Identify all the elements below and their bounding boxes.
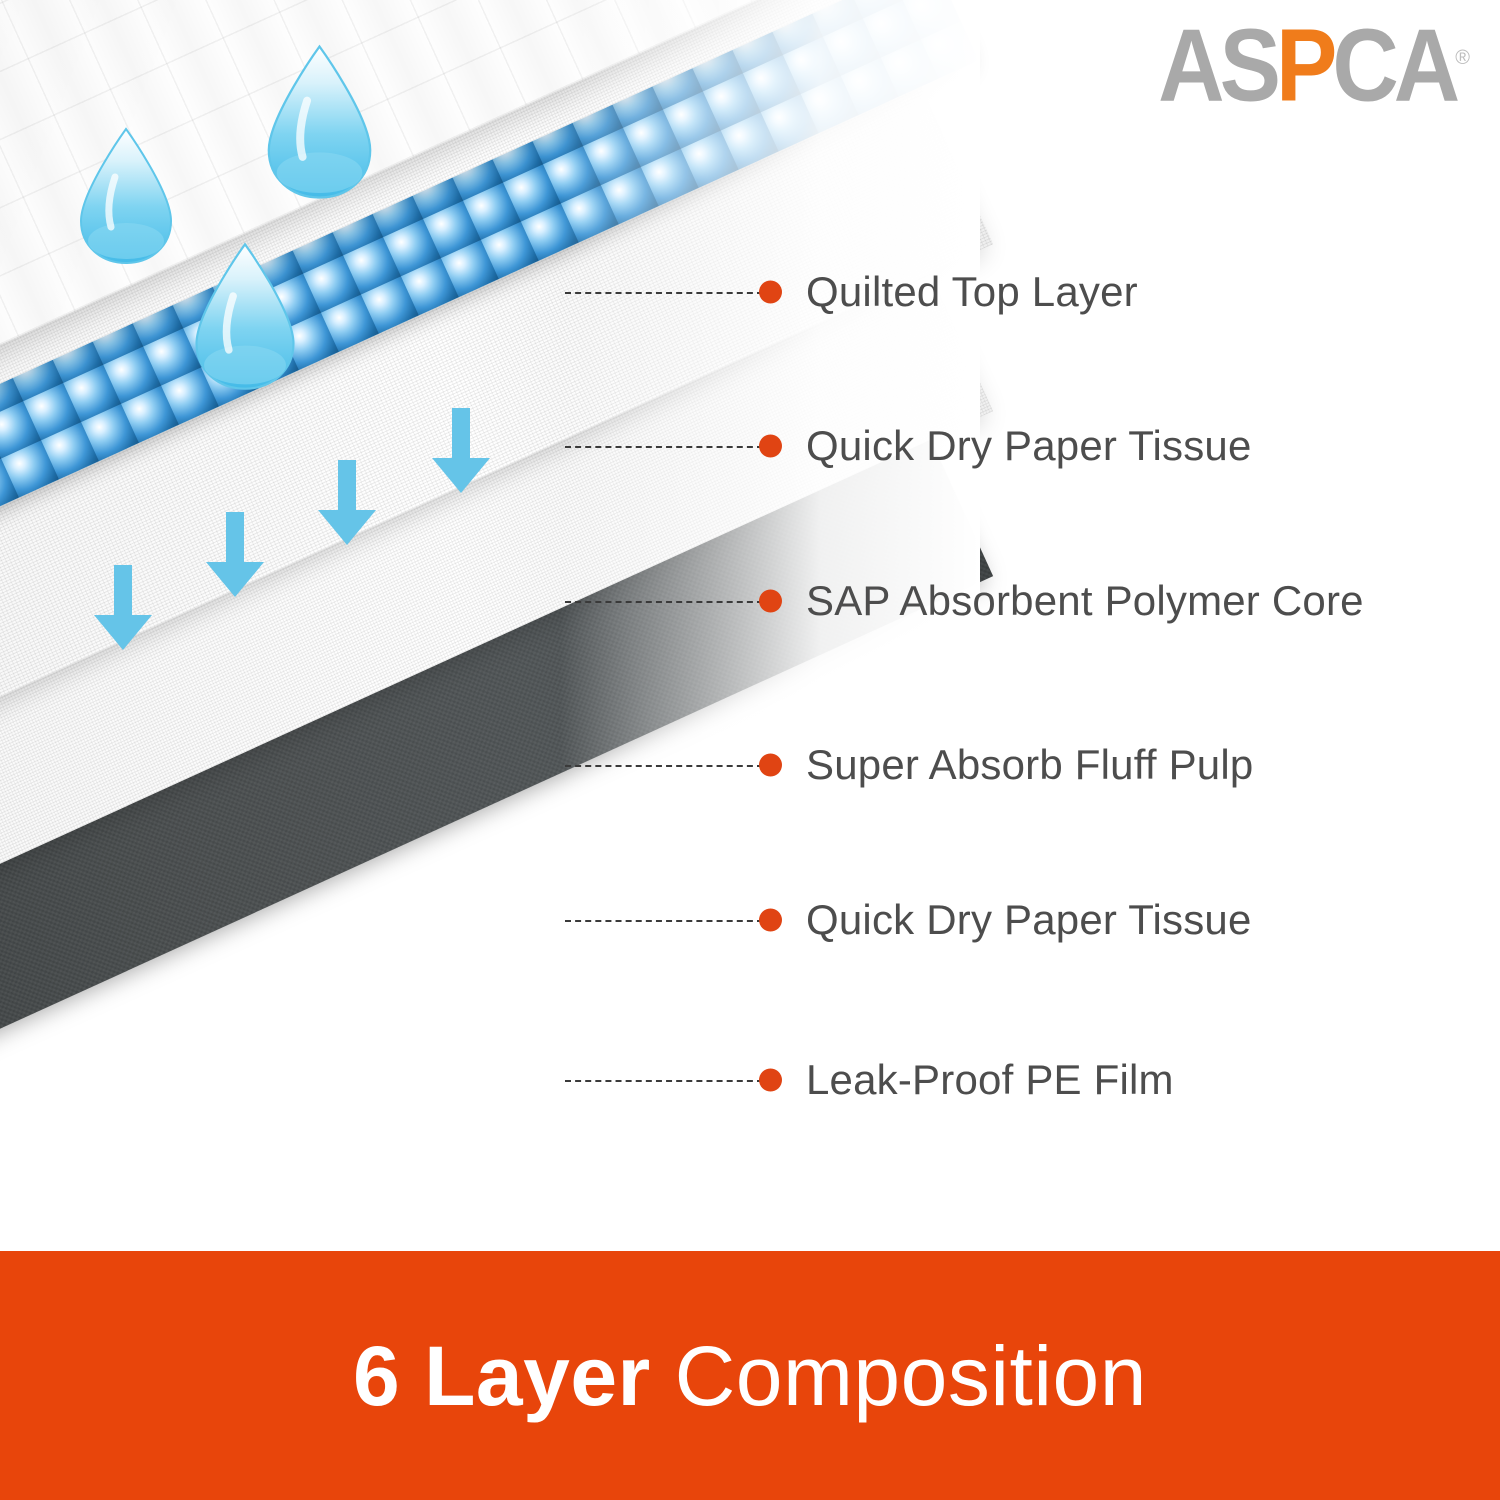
- water-droplet-icon: [75, 125, 177, 267]
- banner-title-bold: 6 Layer: [353, 1329, 651, 1423]
- leader-line: [565, 292, 763, 294]
- layer-label-tissue-upper: Quick Dry Paper Tissue: [806, 422, 1252, 470]
- callout-row: Quick Dry Paper Tissue: [0, 897, 1500, 943]
- callout-dot: [759, 590, 782, 613]
- leader-line: [565, 765, 763, 767]
- layer-label-quilted-top: Quilted Top Layer: [806, 268, 1138, 316]
- callout-row: SAP Absorbent Polymer Core: [0, 578, 1500, 624]
- water-droplet-icon: [262, 42, 377, 202]
- callout-dot: [759, 754, 782, 777]
- leader-line: [565, 1080, 763, 1082]
- aspca-logo: ASPCA®: [1170, 18, 1470, 113]
- callout-dot: [759, 909, 782, 932]
- banner-title: 6 Layer Composition: [353, 1334, 1147, 1418]
- callout-row: Quick Dry Paper Tissue: [0, 423, 1500, 469]
- banner-title-regular: Composition: [675, 1329, 1147, 1423]
- callout-dot: [759, 435, 782, 458]
- leader-line: [565, 446, 763, 448]
- down-arrow-icon: [316, 460, 378, 546]
- logo-text-p: P: [1276, 8, 1332, 122]
- callout-dot: [759, 281, 782, 304]
- layer-label-sap-core: SAP Absorbent Polymer Core: [806, 577, 1364, 625]
- callout-row: Quilted Top Layer: [0, 269, 1500, 315]
- callout-dot: [759, 1069, 782, 1092]
- aspca-wordmark: ASPCA®: [1158, 14, 1470, 117]
- water-droplet-icon: [190, 240, 300, 393]
- layer-label-pe-film: Leak-Proof PE Film: [806, 1056, 1174, 1104]
- bottom-banner: 6 Layer Composition: [0, 1251, 1500, 1500]
- infographic-canvas: ASPCA® Quilted Top Layer Quick Dry Paper…: [0, 0, 1500, 1500]
- layer-label-fluff-pulp: Super Absorb Fluff Pulp: [806, 741, 1253, 789]
- leader-line: [565, 920, 763, 922]
- logo-text-as: AS: [1158, 8, 1276, 122]
- callout-row: Leak-Proof PE Film: [0, 1057, 1500, 1103]
- callout-row: Super Absorb Fluff Pulp: [0, 742, 1500, 788]
- registered-mark-icon: ®: [1455, 48, 1470, 68]
- layer-label-tissue-lower: Quick Dry Paper Tissue: [806, 896, 1252, 944]
- logo-text-ca: CA: [1332, 8, 1455, 122]
- leader-line: [565, 601, 763, 603]
